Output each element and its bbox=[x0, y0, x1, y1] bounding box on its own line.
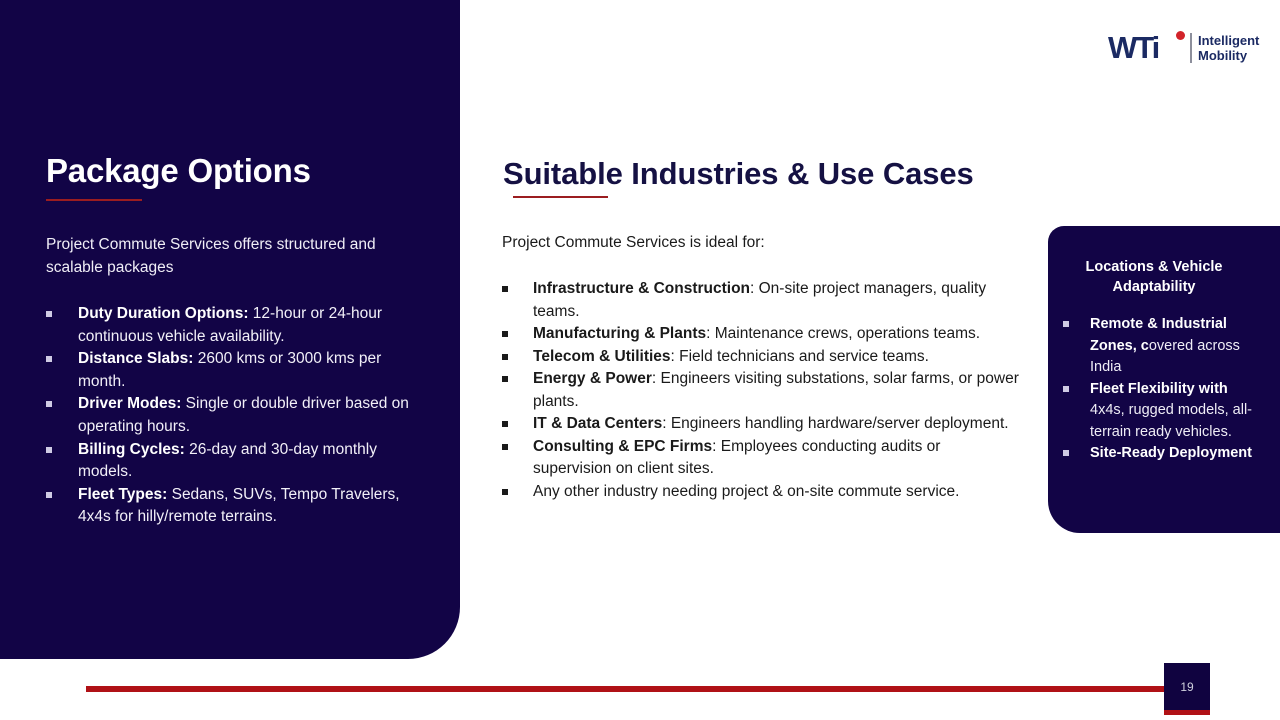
left-panel-title-underline bbox=[46, 199, 142, 201]
list-item-label: Telecom & Utilities bbox=[533, 348, 671, 365]
main-intro: Project Commute Services is ideal for: bbox=[502, 234, 765, 252]
list-item: Infrastructure & Construction: On-site p… bbox=[502, 278, 1022, 323]
logo-tagline-line1: Intelligent bbox=[1198, 33, 1259, 48]
list-item-label: Driver Modes: bbox=[78, 395, 181, 412]
list-item-label: Energy & Power bbox=[533, 370, 652, 387]
list-item: Site-Ready Deployment bbox=[1063, 443, 1263, 465]
list-item-label: Infrastructure & Construction bbox=[533, 280, 750, 297]
logo-tagline: Intelligent Mobility bbox=[1198, 33, 1259, 63]
list-item: Remote & Industrial Zones, covered acros… bbox=[1063, 314, 1263, 379]
list-item-label: IT & Data Centers bbox=[533, 415, 662, 432]
logo-divider bbox=[1190, 33, 1192, 63]
page-title: Suitable Industries & Use Cases bbox=[503, 156, 974, 192]
list-item: IT & Data Centers: Engineers handling ha… bbox=[502, 413, 1022, 436]
card-title: Locations & Vehicle Adaptability bbox=[1048, 257, 1260, 297]
footer-red-rule bbox=[86, 686, 1180, 692]
list-item: Telecom & Utilities: Field technicians a… bbox=[502, 346, 1022, 369]
list-item-label: Billing Cycles: bbox=[78, 441, 185, 458]
left-panel-intro: Project Commute Services offers structur… bbox=[46, 233, 398, 279]
list-item-text: 4x4s, rugged models, all-terrain ready v… bbox=[1090, 402, 1252, 440]
list-item-text: Any other industry needing project & on-… bbox=[533, 483, 959, 500]
adaptability-list: Remote & Industrial Zones, covered acros… bbox=[1063, 314, 1263, 465]
list-item-label: Fleet Types: bbox=[78, 486, 167, 503]
list-item: Driver Modes: Single or double driver ba… bbox=[46, 393, 424, 438]
page-title-underline bbox=[513, 196, 608, 198]
logo-dot-icon bbox=[1176, 31, 1185, 40]
wti-logo: WTi Intelligent Mobility bbox=[1108, 30, 1253, 68]
list-item-text: : Field technicians and service teams. bbox=[671, 348, 929, 365]
list-item: Consulting & EPC Firms: Employees conduc… bbox=[502, 436, 1022, 481]
list-item-label: Fleet Flexibility with bbox=[1090, 381, 1228, 397]
list-item-label: Manufacturing & Plants bbox=[533, 325, 706, 342]
page-number: 19 bbox=[1164, 680, 1210, 694]
list-item: Energy & Power: Engineers visiting subst… bbox=[502, 368, 1022, 413]
logo-tagline-line2: Mobility bbox=[1198, 48, 1259, 63]
list-item-label: Duty Duration Options: bbox=[78, 305, 249, 322]
industries-list: Infrastructure & Construction: On-site p… bbox=[502, 278, 1022, 503]
logo-wordmark: WTi bbox=[1108, 30, 1158, 66]
list-item: Fleet Types: Sedans, SUVs, Tempo Travele… bbox=[46, 484, 424, 529]
list-item: Billing Cycles: 26-day and 30-day monthl… bbox=[46, 439, 424, 484]
list-item-text: : Engineers handling hardware/server dep… bbox=[662, 415, 1008, 432]
list-item: Any other industry needing project & on-… bbox=[502, 481, 1022, 504]
list-item-label: Site-Ready Deployment bbox=[1090, 445, 1252, 461]
package-options-list: Duty Duration Options: 12-hour or 24-hou… bbox=[46, 303, 424, 529]
list-item: Distance Slabs: 2600 kms or 3000 kms per… bbox=[46, 348, 424, 393]
list-item-text: : Maintenance crews, operations teams. bbox=[706, 325, 980, 342]
list-item: Fleet Flexibility with 4x4s, rugged mode… bbox=[1063, 379, 1263, 444]
list-item: Manufacturing & Plants: Maintenance crew… bbox=[502, 323, 1022, 346]
list-item: Duty Duration Options: 12-hour or 24-hou… bbox=[46, 303, 424, 348]
left-panel-title: Package Options bbox=[46, 152, 311, 190]
locations-adaptability-card: Locations & Vehicle Adaptability Remote … bbox=[1048, 226, 1280, 533]
list-item-label: Consulting & EPC Firms bbox=[533, 438, 712, 455]
page-number-box-underline bbox=[1164, 710, 1210, 715]
list-item-label: Distance Slabs: bbox=[78, 350, 193, 367]
